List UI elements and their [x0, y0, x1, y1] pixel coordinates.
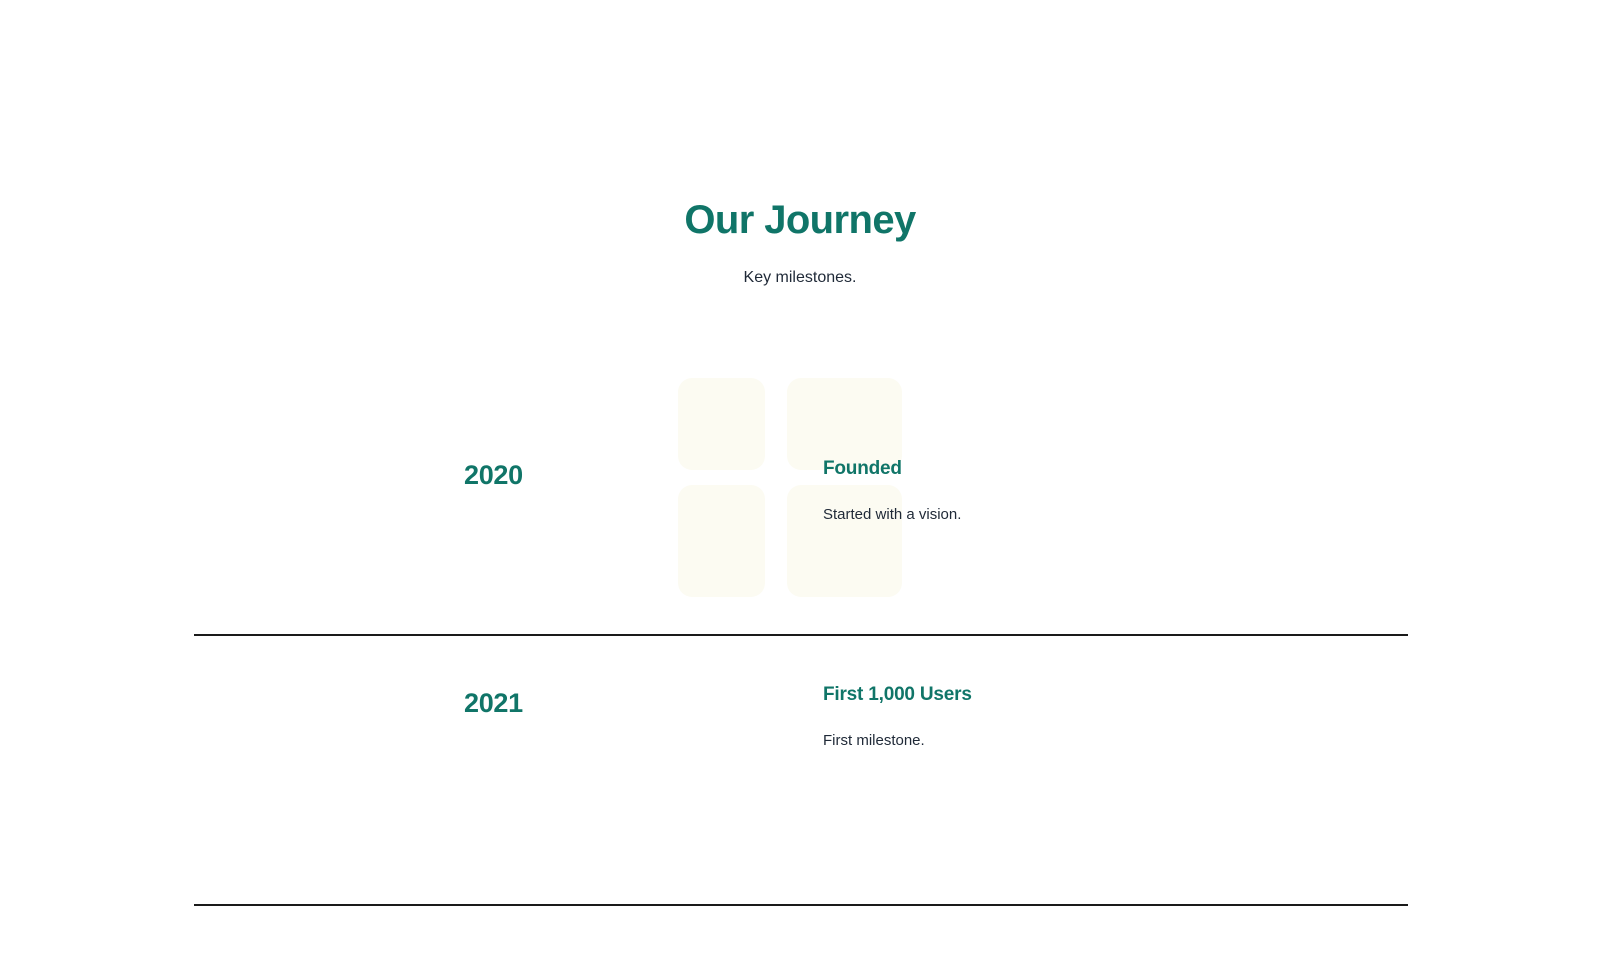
timeline-row: 2020 Founded Started with a vision. [194, 340, 1408, 636]
our-journey-page: Our Journey Key milestones. 2020 Founded… [0, 0, 1600, 978]
page-subtitle: Key milestones. [0, 267, 1600, 289]
media-tile-1 [678, 378, 765, 470]
page-title: Our Journey [0, 196, 1600, 244]
timeline-content: First 1,000 Users First milestone. [823, 682, 1343, 751]
milestone-title: Founded [823, 456, 1343, 482]
timeline-row: 2021 First 1,000 Users First milestone. [194, 636, 1408, 906]
timeline-year: 2020 [464, 458, 523, 492]
milestone-description: First milestone. [823, 708, 1343, 751]
milestone-description: Started with a vision. [823, 482, 1343, 525]
timeline-content: Founded Started with a vision. [823, 456, 1343, 525]
media-tile-3 [678, 485, 765, 597]
timeline-list: 2020 Founded Started with a vision. 2021… [194, 340, 1408, 906]
milestone-title: First 1,000 Users [823, 682, 1343, 708]
timeline-year: 2021 [464, 686, 523, 720]
